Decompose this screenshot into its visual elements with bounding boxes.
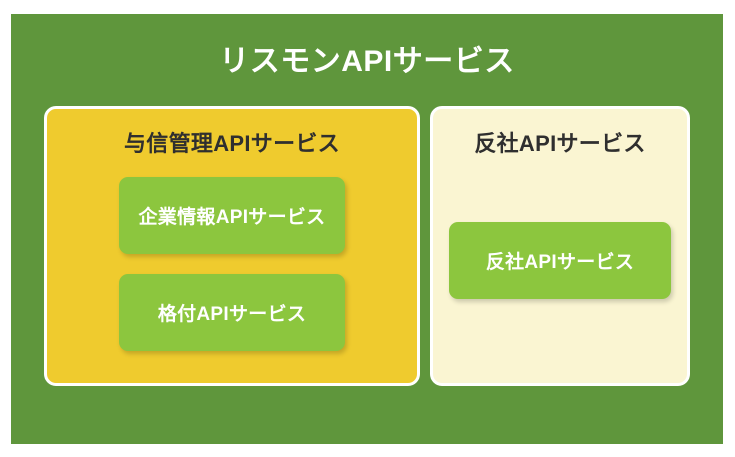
service-card-label: 格付APIサービス (158, 299, 306, 326)
service-card-label: 企業情報APIサービス (139, 202, 326, 229)
panel-credit-management-title: 与信管理APIサービス (47, 131, 417, 157)
service-card-company-info-api[interactable]: 企業情報APIサービス (119, 177, 345, 254)
panel-row: 与信管理APIサービス 企業情報APIサービス 格付APIサービス 反社APIサ… (44, 106, 690, 386)
panel-credit-management: 与信管理APIサービス 企業情報APIサービス 格付APIサービス (44, 106, 420, 386)
panel-antisocial: 反社APIサービス 反社APIサービス (430, 106, 690, 386)
panel-credit-management-cards: 企業情報APIサービス 格付APIサービス (47, 177, 417, 351)
service-overview-board: リスモンAPIサービス 与信管理APIサービス 企業情報APIサービス 格付AP… (11, 14, 723, 444)
page-title: リスモンAPIサービス (11, 44, 723, 80)
diagram-canvas: リスモンAPIサービス 与信管理APIサービス 企業情報APIサービス 格付AP… (0, 0, 735, 457)
panel-antisocial-cards: 反社APIサービス (433, 222, 687, 299)
service-card-antisocial-api[interactable]: 反社APIサービス (449, 222, 671, 299)
panel-antisocial-title: 反社APIサービス (433, 131, 687, 157)
service-card-label: 反社APIサービス (486, 247, 634, 274)
service-card-rating-api[interactable]: 格付APIサービス (119, 274, 345, 351)
